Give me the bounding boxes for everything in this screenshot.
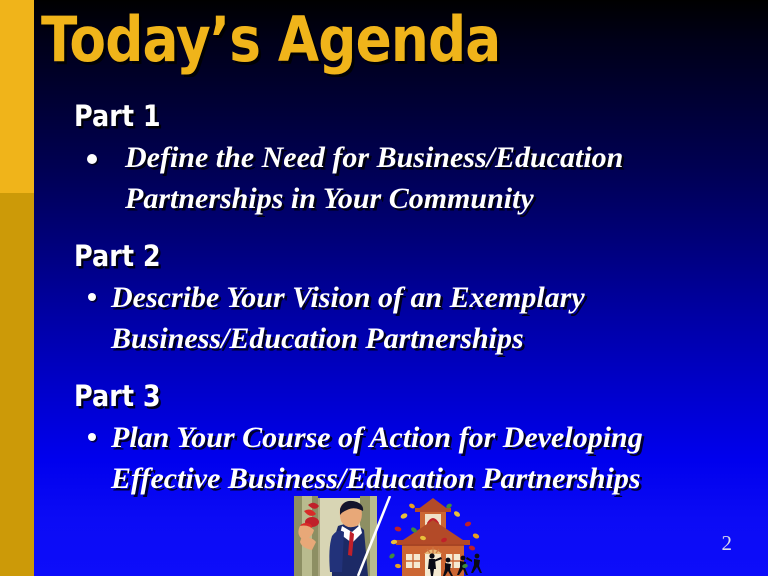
schoolhouse-scene-icon (388, 498, 482, 576)
section-label-part-1: Part 1 (74, 100, 655, 133)
presentation-slide: Today’s Agenda Part 1 Define the Need fo… (0, 0, 768, 576)
left-accent-stripe-upper (0, 0, 34, 193)
bullet-item-part-1: Define the Need for Business/Education P… (74, 137, 734, 219)
bullet-item-part-2: Describe Your Vision of an Exemplary Bus… (74, 277, 734, 359)
left-accent-stripe-lower (0, 193, 34, 576)
agenda-section-3: Part 3 Plan Your Course of Action for De… (74, 380, 734, 499)
businessman-scene-icon (294, 496, 377, 576)
bullet-dot-icon (87, 154, 97, 164)
bullet-item-part-3: Plan Your Course of Action for Developin… (74, 417, 734, 499)
business-education-partnership-illustration (286, 496, 494, 576)
bullet-dot-icon (88, 433, 96, 441)
section-label-part-3: Part 3 (74, 380, 655, 413)
agenda-section-1: Part 1 Define the Need for Business/Educ… (74, 100, 734, 219)
bullet-text-part-1: Define the Need for Business/Education P… (125, 137, 695, 219)
slide-title: Today’s Agenda (41, 6, 500, 74)
bullet-dot-icon (88, 293, 96, 301)
page-number: 2 (722, 531, 733, 556)
bullet-text-part-3: Plan Your Course of Action for Developin… (111, 417, 711, 499)
agenda-section-2: Part 2 Describe Your Vision of an Exempl… (74, 240, 734, 359)
section-label-part-2: Part 2 (74, 240, 655, 273)
bullet-text-part-2: Describe Your Vision of an Exemplary Bus… (111, 277, 686, 359)
